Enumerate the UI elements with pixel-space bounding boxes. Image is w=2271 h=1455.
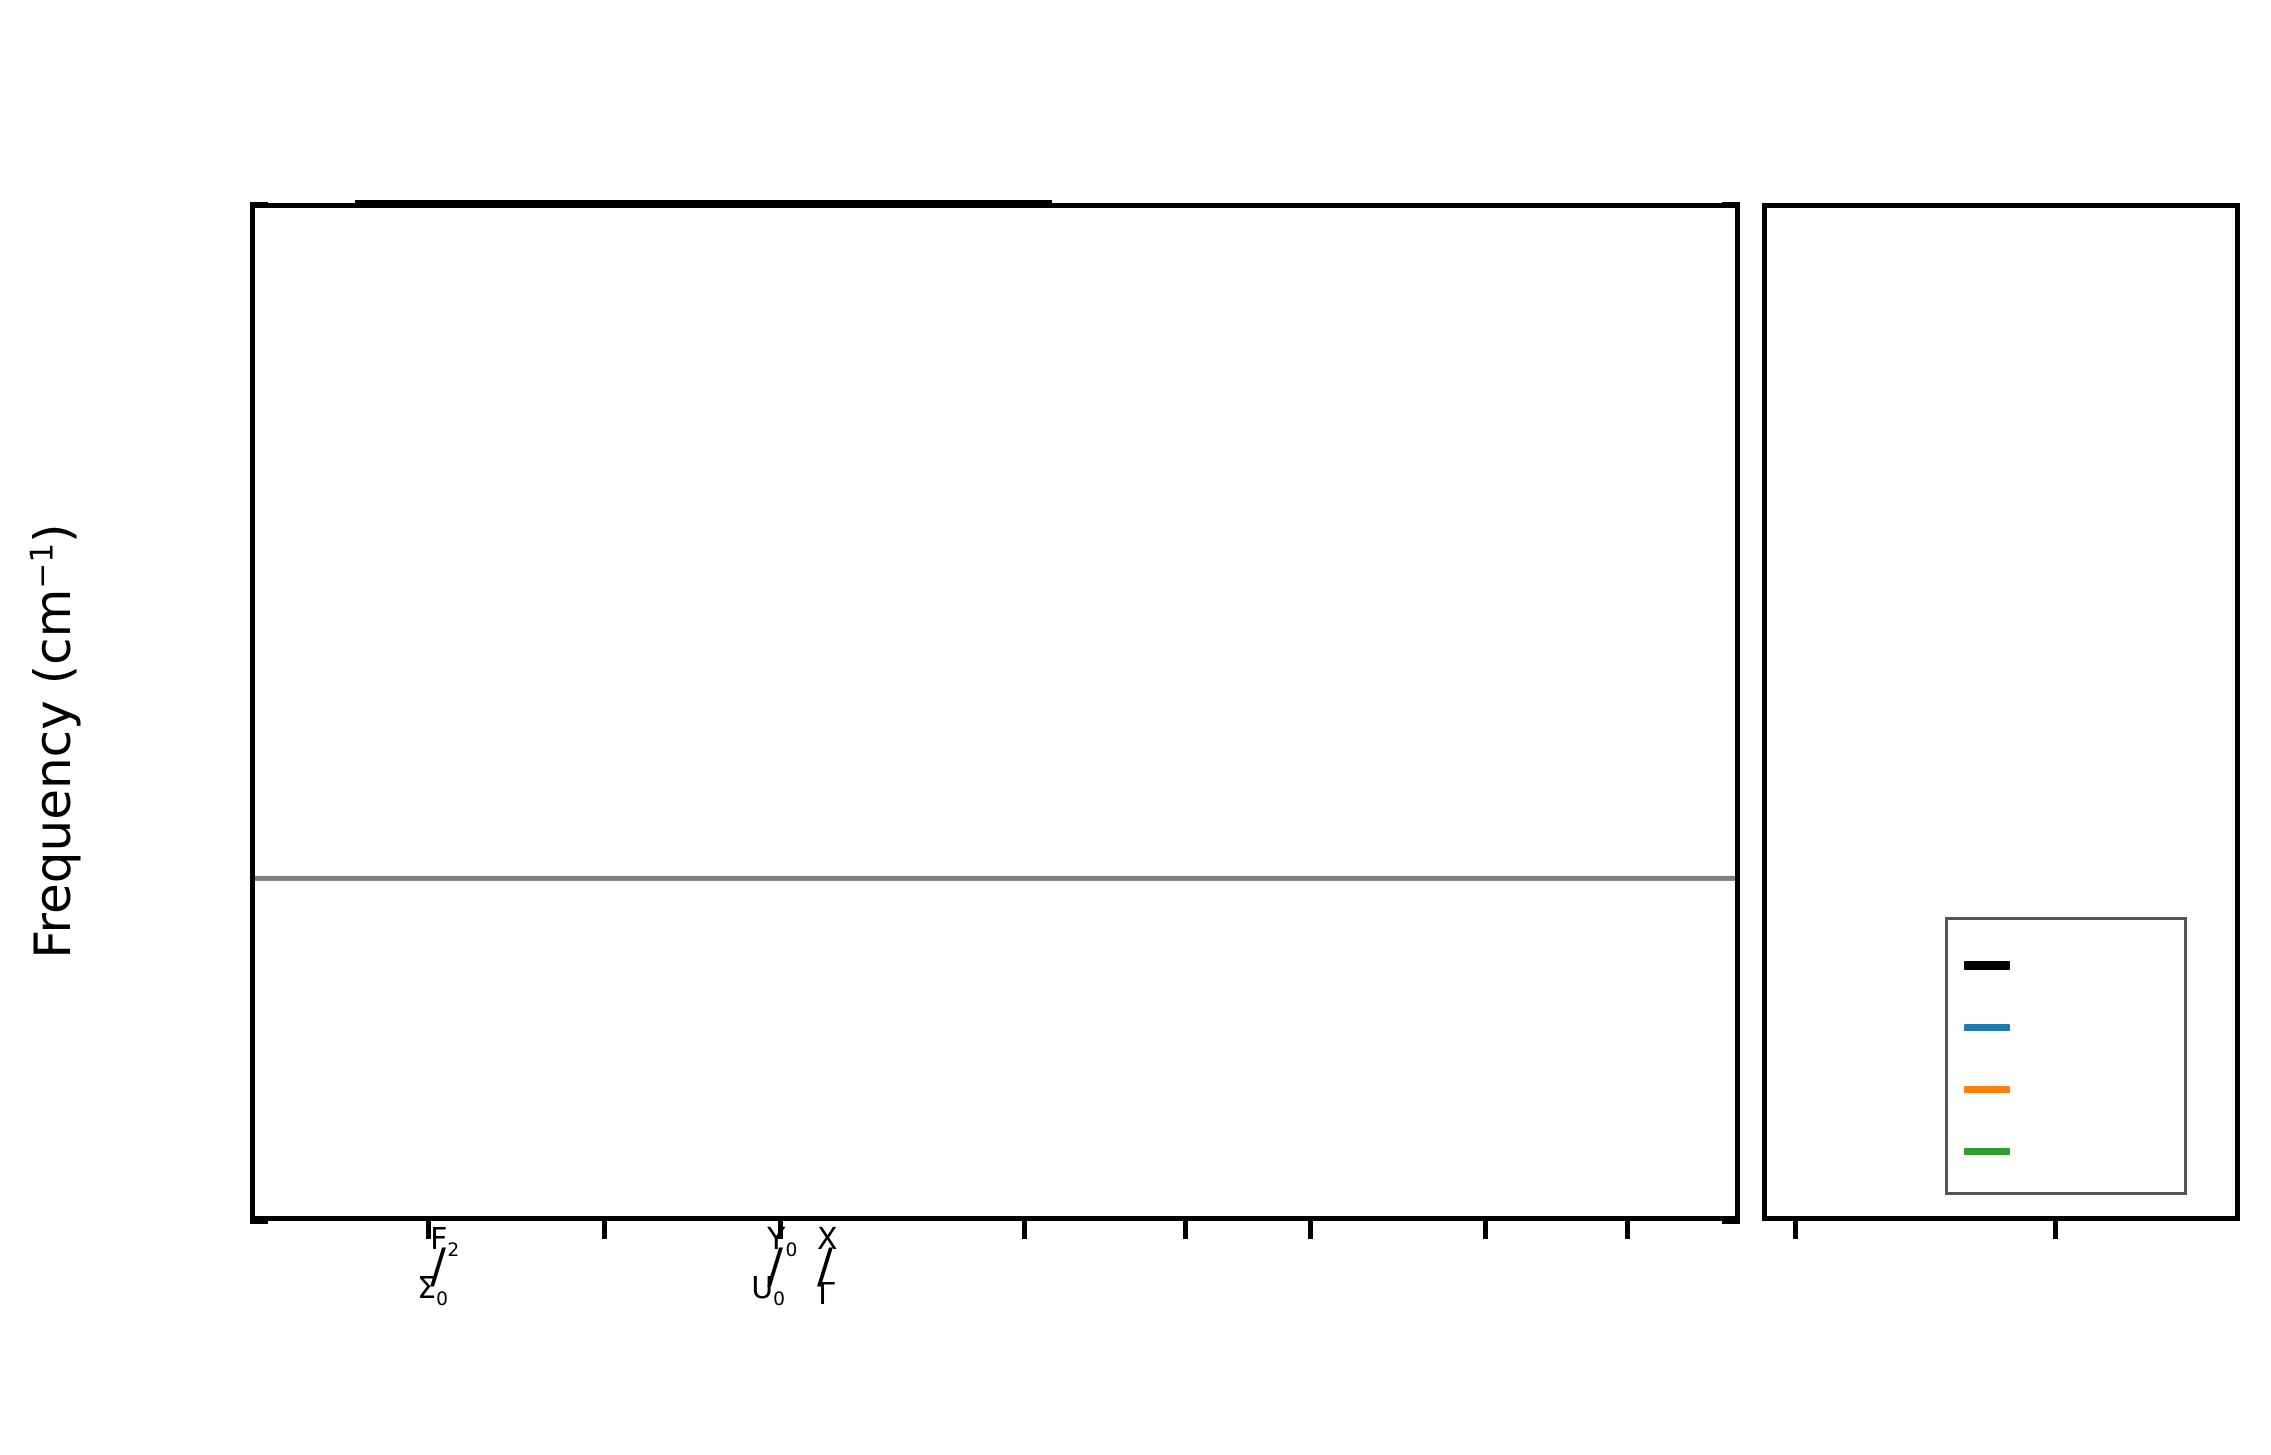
x-tick-2 <box>602 1221 607 1239</box>
phonon-band-dos-figure: Frequency (cm−1) <box>0 0 2271 1455</box>
kpath-label-x-f2-sigma0: F2/Σ0 <box>430 1243 446 1290</box>
legend-item-mg[interactable] <box>1948 996 2184 1058</box>
kpath-denominator-u0: U0 <box>751 1274 785 1310</box>
y-axis-title: Frequency (cm−1) <box>24 241 82 1241</box>
dos-legend <box>1945 917 2187 1195</box>
kpath-denominator-gamma: Γ <box>818 1280 835 1310</box>
kpath-numerator-y0: Y0 <box>767 1225 797 1261</box>
x-tick-4 <box>1022 1221 1027 1239</box>
legend-swatch-total <box>1964 961 2010 970</box>
kpath-label-y0-u0-x-gamma: Y0/U0X/Γ <box>767 1243 833 1290</box>
dos-x-tick-0 <box>1793 1221 1798 1239</box>
kpath-fraction-x-gamma: X/Γ <box>817 1243 833 1290</box>
x-tick-6 <box>1308 1221 1313 1239</box>
legend-swatch-co <box>1964 1086 2010 1093</box>
band-structure-canvas <box>255 208 1735 1216</box>
band-structure-plot <box>250 203 1740 1221</box>
x-tick-5 <box>1183 1221 1188 1239</box>
legend-item-s[interactable] <box>1948 1120 2184 1182</box>
legend-swatch-s <box>1964 1148 2010 1155</box>
x-tick-8 <box>1625 1221 1630 1239</box>
x-tick-7 <box>1483 1221 1488 1239</box>
legend-swatch-mg <box>1964 1024 2010 1031</box>
legend-item-co[interactable] <box>1948 1058 2184 1120</box>
kpath-denominator-sigma0: Σ0 <box>417 1274 448 1310</box>
kpath-fraction-f2-sigma0: F2/Σ0 <box>430 1243 446 1290</box>
dos-x-tick-1 <box>2053 1221 2058 1239</box>
kpath-fraction-y0-u0: Y0/U0 <box>767 1243 783 1290</box>
legend-item-total[interactable] <box>1948 934 2184 996</box>
kpath-numerator-x: X <box>817 1225 838 1255</box>
kpath-numerator-f2: F2 <box>430 1225 459 1261</box>
